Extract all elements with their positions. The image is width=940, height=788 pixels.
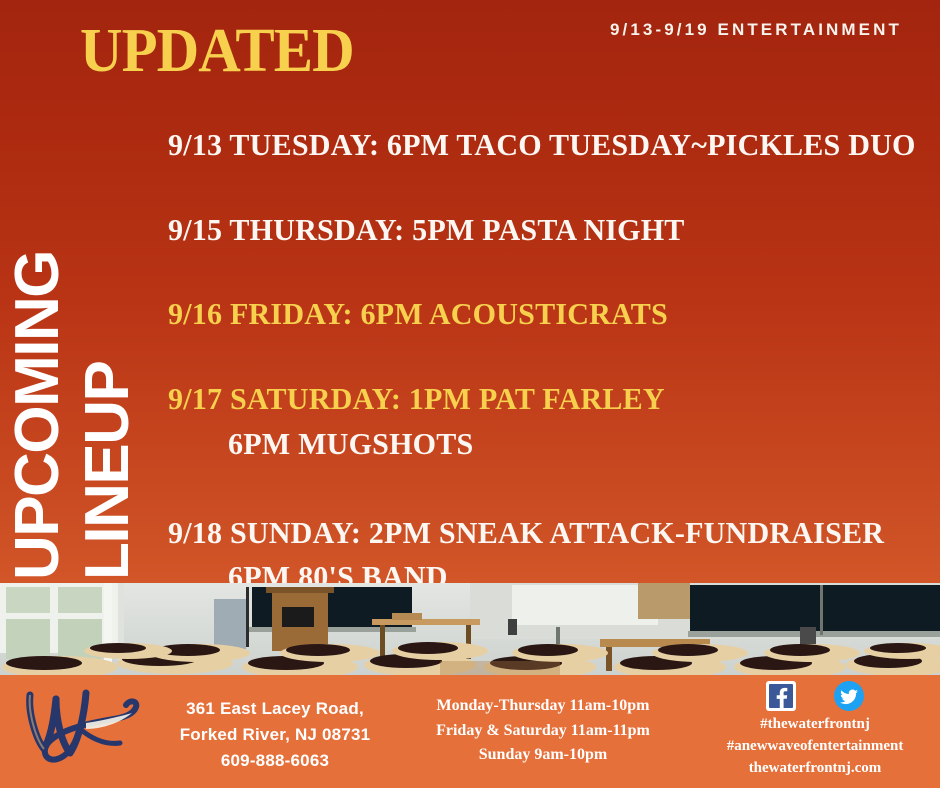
spacer bbox=[168, 247, 928, 297]
list-item: 9/18 SUNDAY: 2PM SNEAK ATTACK-FUNDRAISER bbox=[168, 516, 905, 551]
address-block: 361 East Lacey Road, Forked River, NJ 08… bbox=[160, 696, 390, 773]
social-handles: #thewaterfrontnj #anewwaveofentertainmen… bbox=[692, 714, 938, 780]
spacer bbox=[168, 494, 928, 516]
hours-line-3: Sunday 9am-10pm bbox=[398, 743, 688, 768]
lineup-list: 9/13 TUESDAY: 6PM TACO TUESDAY~PICKLES D… bbox=[168, 128, 928, 595]
hours-line-2: Friday & Saturday 11am-11pm bbox=[398, 719, 688, 744]
spacer bbox=[168, 462, 928, 494]
waterfront-w-monogram-logo bbox=[14, 683, 154, 783]
address-line-2: Forked River, NJ 08731 bbox=[160, 722, 390, 748]
hashtag-primary: #thewaterfrontnj bbox=[692, 714, 938, 736]
list-item: 9/13 TUESDAY: 6PM TACO TUESDAY~PICKLES D… bbox=[168, 128, 905, 163]
facebook-icon[interactable] bbox=[766, 681, 796, 711]
social-icons bbox=[692, 680, 938, 712]
side-title-line-upcoming: UPCOMING bbox=[9, 251, 66, 580]
page-title: UPDATED bbox=[80, 20, 354, 82]
list-item: 9/17 SATURDAY: 1PM PAT FARLEY bbox=[168, 382, 905, 417]
list-item: 9/16 FRIDAY: 6PM ACOUSTICRATS bbox=[168, 297, 905, 332]
social-block: #thewaterfrontnj #anewwaveofentertainmen… bbox=[692, 680, 938, 780]
website-url[interactable]: thewaterfrontnj.com bbox=[692, 758, 938, 780]
side-title-line-lineup: LINEUP bbox=[79, 362, 136, 580]
hours-line-1: Monday-Thursday 11am-10pm bbox=[398, 694, 688, 719]
date-range-label: 9/13-9/19 ENTERTAINMENT bbox=[610, 20, 902, 40]
address-line-1: 361 East Lacey Road, bbox=[160, 696, 390, 722]
list-item: 6PM MUGSHOTS bbox=[228, 427, 907, 462]
spacer bbox=[168, 332, 928, 382]
hashtag-secondary: #anewwaveofentertainment bbox=[692, 736, 938, 758]
hours-block: Monday-Thursday 11am-10pm Friday & Satur… bbox=[398, 694, 688, 768]
twitter-icon[interactable] bbox=[834, 681, 864, 711]
list-item: 9/15 THURSDAY: 5PM PASTA NIGHT bbox=[168, 213, 905, 248]
entertainment-lineup-poster: UPDATED 9/13-9/19 ENTERTAINMENT UPCOMING… bbox=[0, 0, 940, 788]
spacer bbox=[168, 163, 928, 213]
classroom-photo bbox=[0, 583, 940, 675]
phone-number: 609-888-6063 bbox=[160, 748, 390, 774]
side-title: UPCOMING LINEUP bbox=[8, 110, 158, 580]
